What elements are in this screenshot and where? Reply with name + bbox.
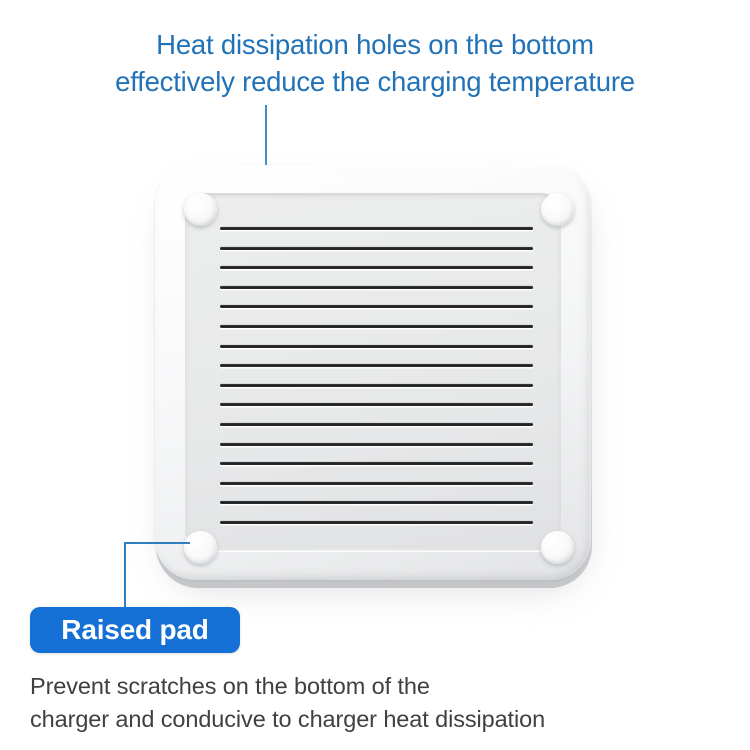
charger-body [155,165,591,580]
raised-pad-badge: Raised pad [30,607,240,653]
vent-slot [220,443,533,446]
vent-slot [220,482,533,485]
vent-slot [220,345,533,348]
vent-slot [220,364,533,367]
vent-slot [220,423,533,426]
caption-text: Prevent scratches on the bottom of the c… [30,670,720,736]
charger-illustration [150,160,600,600]
heat-dissipation-vents [220,227,533,525]
vent-slot [220,247,533,250]
vent-slot [220,521,533,524]
raised-pad-top-right [541,193,574,226]
raised-pad-bottom-right [541,531,574,564]
headline-line-2: effectively reduce the charging temperat… [0,63,750,100]
pad-callout-leader-horizontal [124,542,190,544]
headline-text: Heat dissipation holes on the bottom eff… [0,26,750,100]
raised-pad-bottom-left [184,531,217,564]
vent-slot [220,286,533,289]
vent-slot [220,403,533,406]
infographic-canvas: Heat dissipation holes on the bottom eff… [0,0,750,750]
caption-line-2: charger and conducive to charger heat di… [30,703,720,736]
vent-slot [220,305,533,308]
caption-line-1: Prevent scratches on the bottom of the [30,670,720,703]
vent-slot [220,266,533,269]
vent-slot [220,384,533,387]
raised-pad-top-left [184,193,217,226]
headline-line-1: Heat dissipation holes on the bottom [0,26,750,63]
raised-pad-badge-label: Raised pad [61,614,208,646]
vent-slot [220,462,533,465]
vent-slot [220,501,533,504]
pad-callout-leader-vertical [124,542,126,608]
vent-slot [220,227,533,230]
vent-slot [220,325,533,328]
